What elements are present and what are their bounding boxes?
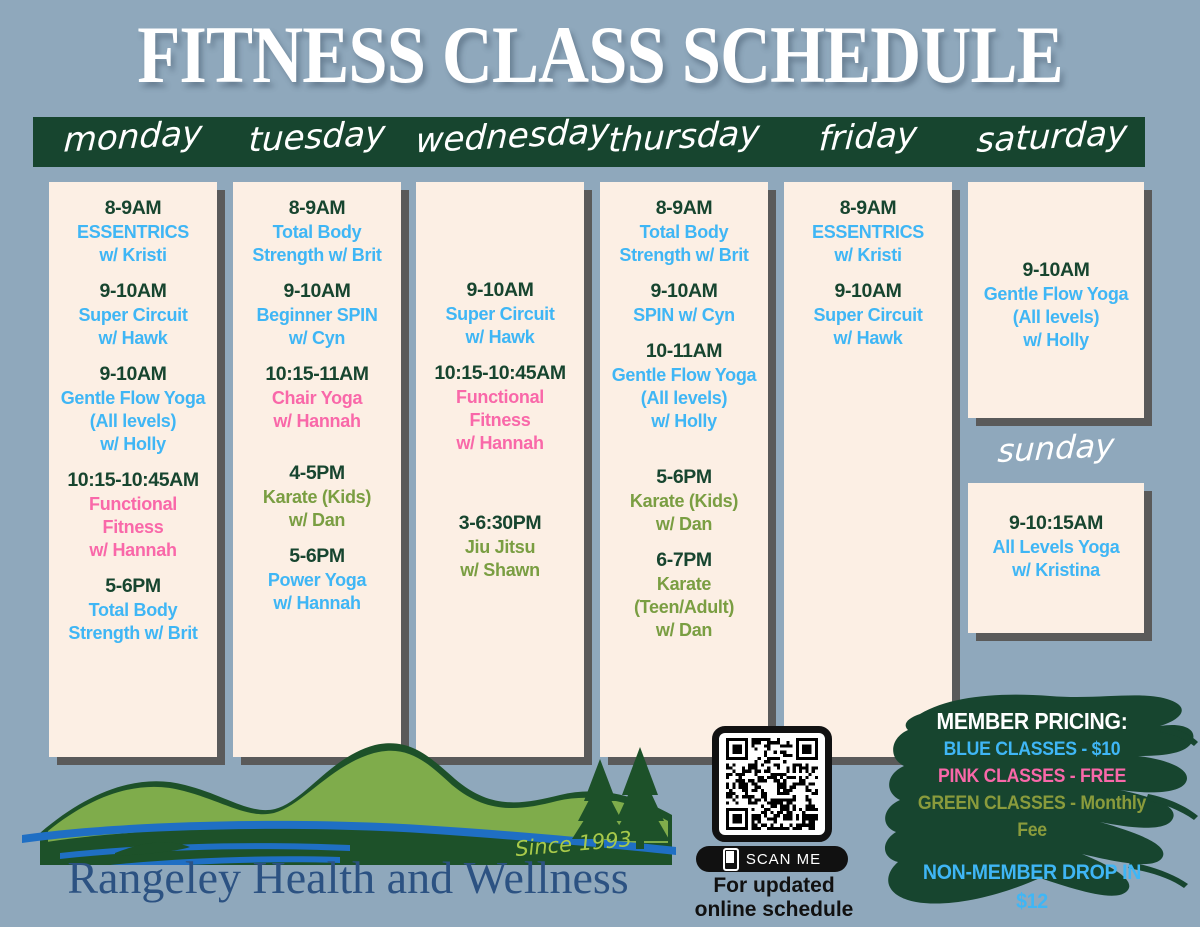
day-card-saturday: 9-10AMGentle Flow Yoga(All levels)w/ Hol… (968, 182, 1144, 418)
class-name-line: (Teen/Adult) (604, 596, 764, 619)
class-time: 9-10AM (604, 279, 764, 304)
pricing-row-pink: PINK CLASSES - FREE (907, 763, 1156, 790)
pricing-dropin-line2: $12 (907, 887, 1156, 916)
class-slot: 6-7PMKarate(Teen/Adult)w/ Dan (604, 548, 764, 642)
phone-icon (723, 848, 739, 871)
class-name-line: (All levels) (53, 410, 213, 433)
class-slot: 9-10:15AMAll Levels Yogaw/ Kristina (972, 511, 1140, 582)
class-name-line: Karate (604, 573, 764, 596)
class-name-line: Total Body (604, 221, 764, 244)
class-name-line: Gentle Flow Yoga (604, 364, 764, 387)
class-slot: 4-5PMKarate (Kids)w/ Dan (237, 461, 397, 532)
day-header-bar: mondaytuesdaywednesdaythursdayfridaysatu… (33, 117, 1145, 167)
class-name-line: w/ Holly (53, 433, 213, 456)
class-time: 9-10AM (788, 279, 948, 304)
class-name-line: Gentle Flow Yoga (972, 283, 1140, 306)
day-card-sunday: 9-10:15AMAll Levels Yogaw/ Kristina (968, 483, 1144, 633)
class-time: 5-6PM (237, 544, 397, 569)
class-time: 10-11AM (604, 339, 764, 364)
class-name-line: (All levels) (972, 306, 1140, 329)
day-card-tuesday: 8-9AMTotal BodyStrength w/ Brit9-10AMBeg… (233, 182, 401, 757)
class-slot: 9-10AMGentle Flow Yoga(All levels)w/ Hol… (972, 258, 1140, 352)
qr-caption-line2: online schedule (688, 898, 860, 922)
class-name-line: w/ Hannah (420, 432, 580, 455)
class-time: 9-10AM (972, 258, 1140, 283)
class-slot: 5-6PMTotal BodyStrength w/ Brit (53, 574, 213, 645)
class-name-line: Strength w/ Brit (237, 244, 397, 267)
class-time: 4-5PM (237, 461, 397, 486)
class-name-line: Total Body (53, 599, 213, 622)
class-name-line: w/ Hawk (788, 327, 948, 350)
class-time: 8-9AM (604, 196, 764, 221)
class-name-line: w/ Hannah (53, 539, 213, 562)
day-header-thursday: thursday (598, 107, 769, 168)
pricing-title: MEMBER PRICING: (909, 706, 1156, 736)
class-slot: 10:15-11AMChair Yogaw/ Hannah (237, 362, 397, 433)
class-name-line: Beginner SPIN (237, 304, 397, 327)
logo-wordmark: Rangeley Health and Wellness (8, 852, 688, 904)
class-slot: 9-10AMSuper Circuitw/ Hawk (53, 279, 213, 350)
day-card-thursday: 8-9AMTotal BodyStrength w/ Brit9-10AMSPI… (600, 182, 768, 757)
class-name-line: Fitness (420, 409, 580, 432)
class-name-line: w/ Holly (972, 329, 1140, 352)
class-slot: 9-10AMSuper Circuitw/ Hawk (420, 278, 580, 349)
class-name-line: w/ Holly (604, 410, 764, 433)
class-slot: 8-9AMTotal BodyStrength w/ Brit (604, 196, 764, 267)
class-time: 6-7PM (604, 548, 764, 573)
class-slot: 9-10AMBeginner SPINw/ Cyn (237, 279, 397, 350)
class-name-line: w/ Kristi (788, 244, 948, 267)
class-name-line: ESSENTRICS (788, 221, 948, 244)
class-time: 8-9AM (237, 196, 397, 221)
qr-code[interactable] (712, 726, 832, 842)
day-header-tuesday: tuesday (231, 107, 402, 168)
class-name-line: Power Yoga (237, 569, 397, 592)
class-name-line: w/ Hannah (237, 410, 397, 433)
day-card-friday: 8-9AMESSENTRICSw/ Kristi9-10AMSuper Circ… (784, 182, 952, 757)
class-name-line: Super Circuit (53, 304, 213, 327)
member-pricing-block: MEMBER PRICING: BLUE CLASSES - $10PINK C… (898, 706, 1166, 916)
class-name-line: Super Circuit (420, 303, 580, 326)
class-time: 9-10AM (53, 279, 213, 304)
day-header-sunday: sunday (967, 423, 1146, 472)
day-header-saturday: saturday (966, 107, 1137, 168)
pricing-dropin-line1: NON-MEMBER DROP IN (907, 858, 1156, 887)
class-name-line: w/ Dan (604, 513, 764, 536)
class-slot: 10-11AMGentle Flow Yoga(All levels)w/ Ho… (604, 339, 764, 433)
class-name-line: w/ Hawk (420, 326, 580, 349)
class-name-line: w/ Cyn (237, 327, 397, 350)
class-name-line: w/ Kristina (972, 559, 1140, 582)
scan-me-label: SCAN ME (746, 851, 821, 868)
class-name-line: Karate (Kids) (237, 486, 397, 509)
class-slot: 8-9AMESSENTRICSw/ Kristi (53, 196, 213, 267)
class-name-line: All Levels Yoga (972, 536, 1140, 559)
class-name-line: Super Circuit (788, 304, 948, 327)
class-time: 10:15-10:45AM (53, 468, 213, 493)
qr-caption: For updated online schedule (688, 874, 860, 922)
class-time: 10:15-10:45AM (420, 361, 580, 386)
class-time: 8-9AM (788, 196, 948, 221)
class-name-line: Functional (420, 386, 580, 409)
day-header-friday: friday (782, 107, 953, 168)
class-name-line: w/ Shawn (420, 559, 580, 582)
class-name-line: w/ Hannah (237, 592, 397, 615)
class-time: 5-6PM (604, 465, 764, 490)
day-card-monday: 8-9AMESSENTRICSw/ Kristi9-10AMSuper Circ… (49, 182, 217, 757)
class-slot: 8-9AMTotal BodyStrength w/ Brit (237, 196, 397, 267)
class-slot: 8-9AMESSENTRICSw/ Kristi (788, 196, 948, 267)
class-slot: 5-6PMPower Yogaw/ Hannah (237, 544, 397, 615)
class-slot: 9-10AMGentle Flow Yoga(All levels)w/ Hol… (53, 362, 213, 456)
pricing-dropin: NON-MEMBER DROP IN $12 (907, 858, 1156, 916)
class-slot: 10:15-10:45AMFunctionalFitnessw/ Hannah (420, 361, 580, 455)
pricing-row-green: GREEN CLASSES - Monthly Fee (907, 790, 1156, 844)
scan-me-badge: SCAN ME (696, 846, 848, 872)
pricing-row-blue: BLUE CLASSES - $10 (907, 736, 1156, 763)
class-name-line: ESSENTRICS (53, 221, 213, 244)
class-name-line: Karate (Kids) (604, 490, 764, 513)
class-time: 9-10AM (237, 279, 397, 304)
class-name-line: Strength w/ Brit (53, 622, 213, 645)
class-time: 10:15-11AM (237, 362, 397, 387)
qr-caption-line1: For updated (688, 874, 860, 898)
class-slot: 5-6PMKarate (Kids)w/ Dan (604, 465, 764, 536)
class-time: 3-6:30PM (420, 511, 580, 536)
class-time: 9-10:15AM (972, 511, 1140, 536)
day-header-wednesday: wednesday (414, 107, 585, 168)
pricing-rows: BLUE CLASSES - $10PINK CLASSES - FREEGRE… (898, 736, 1166, 844)
class-name-line: w/ Kristi (53, 244, 213, 267)
page-title: FITNESS CLASS SCHEDULE (84, 14, 1116, 96)
class-name-line: Strength w/ Brit (604, 244, 764, 267)
class-slot: 3-6:30PMJiu Jitsuw/ Shawn (420, 511, 580, 582)
class-name-line: Total Body (237, 221, 397, 244)
class-name-line: (All levels) (604, 387, 764, 410)
class-slot: 10:15-10:45AMFunctionalFitnessw/ Hannah (53, 468, 213, 562)
class-name-line: Fitness (53, 516, 213, 539)
class-name-line: w/ Hawk (53, 327, 213, 350)
class-slot: 9-10AMSuper Circuitw/ Hawk (788, 279, 948, 350)
class-name-line: SPIN w/ Cyn (604, 304, 764, 327)
class-time: 9-10AM (53, 362, 213, 387)
class-time: 5-6PM (53, 574, 213, 599)
class-name-line: Gentle Flow Yoga (53, 387, 213, 410)
class-name-line: w/ Dan (604, 619, 764, 642)
class-name-line: w/ Dan (237, 509, 397, 532)
class-name-line: Chair Yoga (237, 387, 397, 410)
class-time: 9-10AM (420, 278, 580, 303)
day-header-monday: monday (47, 107, 218, 168)
class-slot: 9-10AMSPIN w/ Cyn (604, 279, 764, 327)
class-time: 8-9AM (53, 196, 213, 221)
fitness-schedule-poster: FITNESS CLASS SCHEDULE mondaytuesdaywedn… (0, 0, 1200, 927)
class-name-line: Jiu Jitsu (420, 536, 580, 559)
day-card-wednesday: 9-10AMSuper Circuitw/ Hawk10:15-10:45AMF… (416, 182, 584, 757)
class-name-line: Functional (53, 493, 213, 516)
